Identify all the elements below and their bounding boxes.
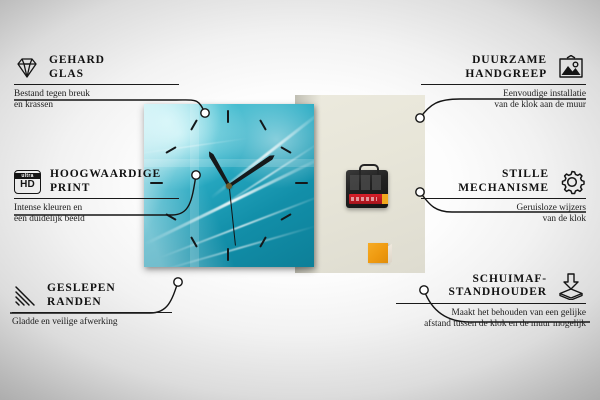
feature-gehard-glas: GEHARD GLAS Bestand tegen breuk en krass… xyxy=(14,54,179,112)
press-down-icon xyxy=(556,272,586,300)
feature-title: GEHARD GLAS xyxy=(49,54,105,81)
connector-endpoint xyxy=(416,114,424,122)
picture-frame-icon xyxy=(556,55,586,81)
feature-description: Intense kleuren en een duidelijk beeld xyxy=(14,203,179,226)
infographic-canvas: GEHARD GLAS Bestand tegen breuk en krass… xyxy=(0,0,600,400)
feature-hoogwaardige-print: ultra HD HOOGWAARDIGE PRINT Intense kleu… xyxy=(14,168,179,226)
feature-description: Gladde en veilige afwerking xyxy=(12,317,172,328)
feature-description: Bestand tegen breuk en krassen xyxy=(14,89,179,112)
feature-description: Eenvoudige installatie van de klok aan d… xyxy=(421,89,586,112)
feature-schuimaf-standhouder: SCHUIMAF- STANDHOUDER Maakt het behouden… xyxy=(396,272,586,331)
feature-title: SCHUIMAF- STANDHOUDER xyxy=(448,273,547,300)
feature-title: STILLE MECHANISME xyxy=(458,168,549,195)
feature-title: HOOGWAARDIGE PRINT xyxy=(50,168,161,195)
feature-divider xyxy=(12,312,172,313)
feature-divider xyxy=(396,303,586,304)
connector-endpoint xyxy=(174,278,182,286)
feature-divider xyxy=(421,198,586,199)
feature-divider xyxy=(14,84,179,85)
gear-icon xyxy=(558,169,586,195)
feature-title: DUURZAME HANDGREEP xyxy=(465,54,547,81)
feature-duurzame-handgreep: DUURZAME HANDGREEP Eenvoudige installati… xyxy=(421,54,586,112)
feature-description: Geruisloze wijzers van de klok xyxy=(421,203,586,226)
connector-endpoint xyxy=(192,171,200,179)
diagonal-lines-icon xyxy=(12,284,38,308)
feature-geslepen-randen: GESLEPEN RANDEN Gladde en veilige afwerk… xyxy=(12,282,172,328)
feature-stille-mechanisme: STILLE MECHANISME Geruisloze wijzers van… xyxy=(421,168,586,226)
feature-divider xyxy=(421,84,586,85)
feature-divider xyxy=(14,198,179,199)
connector-endpoint xyxy=(201,109,209,117)
feature-title: GESLEPEN RANDEN xyxy=(47,282,116,309)
ultra-hd-icon: ultra HD xyxy=(14,170,41,194)
feature-description: Maakt het behouden van een gelijke afsta… xyxy=(396,308,586,331)
diamond-icon xyxy=(14,56,40,80)
